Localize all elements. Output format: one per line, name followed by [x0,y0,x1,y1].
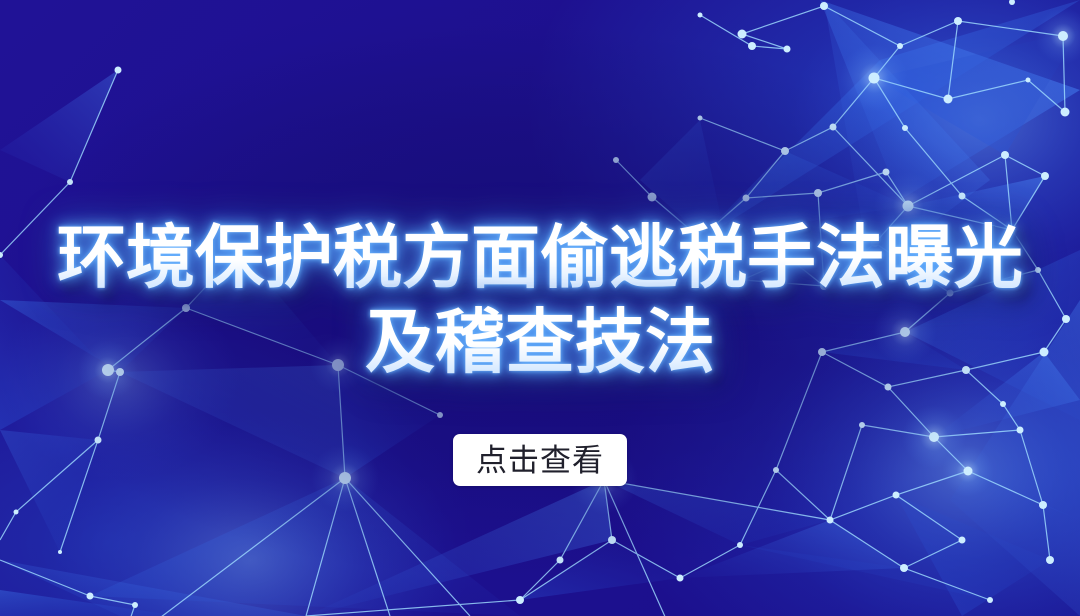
poster-canvas: 环境保护税方面偷逃税手法曝光 及稽查技法 点击查看 [0,0,1080,616]
poster-title-line-1: 环境保护税方面偷逃税手法曝光 [57,216,1023,300]
poster-title-line-2: 及稽查技法 [365,300,715,384]
poster-content: 环境保护税方面偷逃税手法曝光 及稽查技法 点击查看 [0,0,1080,616]
cta-button-label: 点击查看 [476,445,604,476]
click-to-view-button[interactable]: 点击查看 [453,434,627,486]
